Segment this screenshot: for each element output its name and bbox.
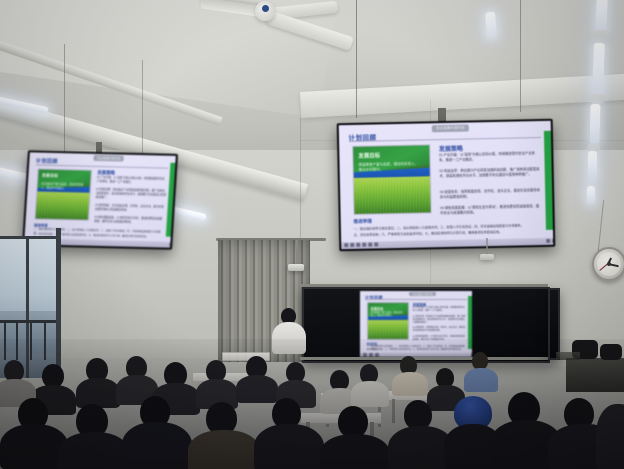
- balcony-railing: [0, 320, 56, 323]
- tv-mount-right: [438, 108, 446, 122]
- window-header: [0, 236, 60, 239]
- slide-bullet: 03 经营体系：培育家庭农场、合作社、龙头企业，健全社会化服务体系与利益联结机制…: [413, 327, 467, 333]
- hero-subtitle: 提高粮食产量与品质，增加农民收入，推动乡村振兴。: [41, 181, 85, 190]
- slide-badge: 农业发展与现代化: [409, 292, 436, 296]
- hanger-wire: [142, 60, 143, 154]
- classroom-photo: 计划回顾 农业发展与现代化 发展目标 提高粮食产量与品质，增加农民收入，推动乡村…: [0, 0, 624, 469]
- slide-bullet: 02 科技支撑：种业振兴产业研发加强科技创新，推广良种良法配套技术，提高机械化作…: [96, 188, 167, 201]
- hanger-wire: [64, 44, 65, 152]
- slide-hero-image: 发展目标 提高粮食产量与品质，增加农民收入，推动乡村振兴。: [352, 144, 432, 215]
- slide-bullet: 03 经营体系：培育家庭农场、合作社、龙头企业，健全社会化服务体系与利益联结机制…: [95, 204, 166, 213]
- wall-clock: [592, 247, 624, 281]
- hanging-display-right[interactable]: 计划回顾 农业发展与现代化 发展目标 提高粮食产量与品质，增加农民收入，推动乡村…: [337, 119, 556, 251]
- slide-badge: 农业发展与现代化: [432, 124, 469, 132]
- hero-subtitle: 提高粮食产量与品质，增加农民收入，推动乡村振兴。: [371, 312, 404, 319]
- hero-title: 发展目标: [42, 173, 58, 179]
- slide-bullet: 04 绿色低碳发展：以“绿色生态为导向”，推进化肥农药减量增效，循环农业与资源集…: [94, 215, 165, 224]
- slide-bullet: 02 科技支撑：种业振兴产业研发加强科技创新，推广良种良法配套技术，提高机械化作…: [439, 167, 541, 179]
- slide-bullet: 02 科技支撑：种业振兴产业研发加强科技创新，推广良种良法配套技术，提高机械化作…: [413, 316, 467, 325]
- slide-bullet: 03 经营体系：培育家庭农场、合作社、龙头企业，健全社会化服务体系与利益联结机制…: [440, 188, 542, 200]
- hero-title: 发展目标: [358, 151, 380, 159]
- slide-bullet: 04 绿色低碳发展：以“绿色生态为导向”，推进化肥农药减量增效，循环农业与资源集…: [440, 204, 542, 216]
- slide-bullet: 01 产业升级：以“高效”为核心目标价值，持续推进现代农业产业体系，推进一三产业…: [413, 307, 467, 313]
- slide-hero-image: 发展目标 提高粮食产量与品质，增加农民收入，推动乡村振兴。: [34, 168, 92, 221]
- projector-pole: [296, 240, 298, 266]
- slide-taskbar[interactable]: [341, 237, 553, 249]
- hanging-display-left[interactable]: 计划回顾 农业发展与现代化 发展目标 提高粮食产量与品质，增加农民收入，推动乡村…: [22, 150, 178, 249]
- ceiling-projector-mount: [288, 264, 304, 271]
- slide-bullet: 01 产业升级：以“高效”为核心目标价值，持续推进现代农业产业体系，推进一三产业…: [97, 176, 168, 185]
- light-tube-center: [485, 12, 497, 39]
- slide-surface-right: 计划回顾 农业发展与现代化 发展目标 提高粮食产量与品质，增加农民收入，推动乡村…: [339, 121, 554, 249]
- hero-subtitle: 提高粮食产量与品质，增加农民收入，推动乡村振兴。: [359, 162, 422, 173]
- hero-title: 发展目标: [371, 306, 384, 311]
- hanger-wire: [520, 0, 521, 112]
- slide-surface-left: 计划回顾 农业发展与现代化 发展目标 提高粮食产量与品质，增加农民收入，推动乡村…: [24, 152, 176, 247]
- slide-badge: 农业发展与现代化: [94, 155, 124, 162]
- slide-bullet: 01 产业升级：以“高效”为核心目标价值，持续推进现代农业产业体系，推进一三产业…: [439, 151, 541, 163]
- slide-hero-image: 发展目标 提高粮食产量与品质，增加农民收入，推动乡村振兴。: [367, 302, 409, 340]
- foreground-shadow: [0, 339, 624, 469]
- ceiling-speaker: [480, 254, 494, 260]
- slide-footer-heading: 推进举措: [353, 219, 372, 225]
- hanger-wire: [356, 0, 357, 118]
